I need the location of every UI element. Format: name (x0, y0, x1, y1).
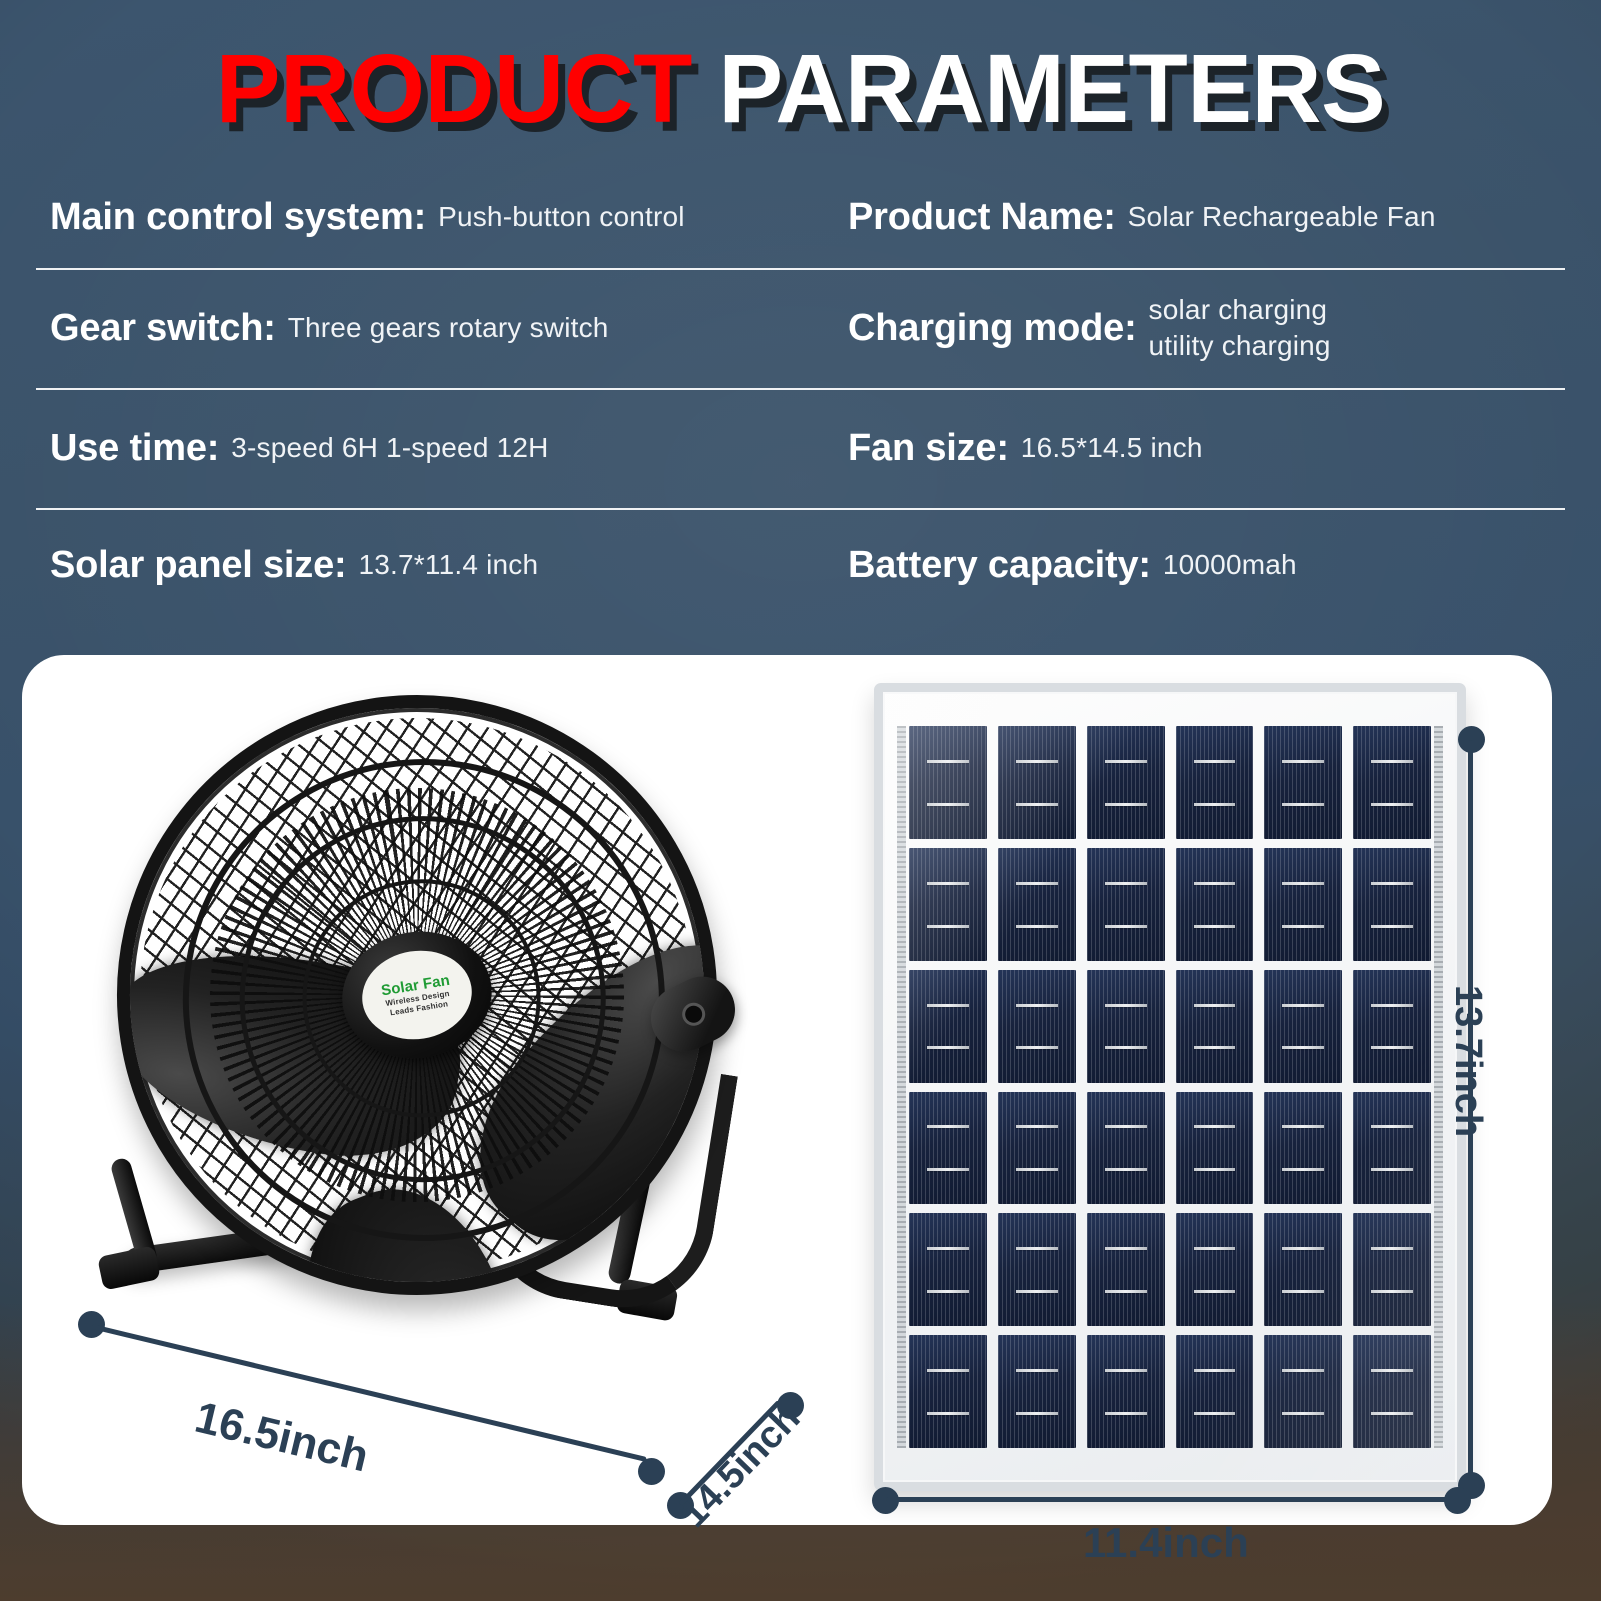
solar-cell (1353, 848, 1431, 961)
dimension-endpoint-dot (638, 1458, 665, 1485)
solar-cell (1087, 726, 1165, 839)
spec-value: Three gears rotary switch (288, 310, 609, 346)
solar-cell (998, 848, 1076, 961)
solar-cell-busbar (1282, 1004, 1324, 1007)
solar-cell-busbar (1282, 1247, 1324, 1250)
solar-cell-busbar (1282, 1125, 1324, 1128)
spec-label: Charging mode: (848, 307, 1137, 350)
spec-cell-battery-capacity: Battery capacity: 10000mah (826, 510, 1565, 622)
solar-cell (1176, 1092, 1254, 1205)
solar-cell-busbar (927, 1168, 969, 1171)
solar-cell-busbar (1371, 1004, 1413, 1007)
title-word-parameters: PARAMETERS (718, 34, 1385, 143)
spec-cell-gear-switch: Gear switch: Three gears rotary switch (36, 270, 826, 388)
solar-cell (1264, 726, 1342, 839)
solar-cell-busbar (1016, 882, 1058, 885)
solar-cell-busbar (927, 1004, 969, 1007)
solar-cell (998, 1092, 1076, 1205)
solar-cell (1353, 1213, 1431, 1326)
solar-cell-busbar (1016, 1046, 1058, 1049)
solar-cell-busbar (927, 1247, 969, 1250)
solar-cell-busbar (1371, 1046, 1413, 1049)
spec-row: Use time: 3-speed 6H 1-speed 12H Fan siz… (36, 390, 1565, 510)
spec-label: Main control system: (50, 196, 426, 239)
solar-cell (1176, 726, 1254, 839)
solar-cell-busbar (1016, 1247, 1058, 1250)
solar-cell-busbar (1194, 760, 1236, 763)
solar-cell-busbar (1371, 1247, 1413, 1250)
solar-cell-busbar (1105, 1168, 1147, 1171)
dimension-endpoint-dot (1444, 1487, 1471, 1514)
solar-cell-busbar (1371, 760, 1413, 763)
spec-row: Main control system: Push-button control… (36, 168, 1565, 270)
solar-cell-busbar (1016, 1369, 1058, 1372)
solar-cell-busbar (1371, 1168, 1413, 1171)
solar-cell-busbar (927, 803, 969, 806)
solar-cell-busbar (1105, 1369, 1147, 1372)
solar-cell-busbar (1194, 1412, 1236, 1415)
solar-cell-busbar (927, 1369, 969, 1372)
solar-cell-busbar (1282, 1290, 1324, 1293)
solar-cell-busbar (1371, 1290, 1413, 1293)
solar-cell-busbar (1282, 1412, 1324, 1415)
spec-value: 3-speed 6H 1-speed 12H (231, 430, 548, 466)
solar-cell-busbar (1016, 760, 1058, 763)
solar-cell-busbar (1371, 882, 1413, 885)
spec-cell-charging-mode: Charging mode: solar charging utility ch… (826, 270, 1565, 388)
solar-cell-busbar (1282, 925, 1324, 928)
spec-row: Solar panel size: 13.7*11.4 inch Battery… (36, 510, 1565, 622)
spec-cell-fan-size: Fan size: 16.5*14.5 inch (826, 390, 1565, 508)
solar-cell-busbar (1105, 1046, 1147, 1049)
solar-cell-busbar (1282, 760, 1324, 763)
solar-cell-column (1087, 726, 1165, 1448)
solar-cell (909, 726, 987, 839)
solar-cell-busbar (1105, 803, 1147, 806)
solar-cell (1176, 1213, 1254, 1326)
solar-cell-busbar (927, 1125, 969, 1128)
spec-label: Battery capacity: (848, 544, 1151, 587)
spec-value: 16.5*14.5 inch (1021, 430, 1203, 466)
solar-cell (1353, 1335, 1431, 1448)
solar-cell (1176, 848, 1254, 961)
solar-cell (1087, 1335, 1165, 1448)
page-title: PRODUCT PARAMETERS (0, 38, 1601, 140)
solar-cell-busbar (927, 1412, 969, 1415)
solar-cell-busbar (1194, 1369, 1236, 1372)
solar-cell-busbar (1371, 803, 1413, 806)
solar-cell-busbar (1105, 760, 1147, 763)
spec-cell-solar-panel-size: Solar panel size: 13.7*11.4 inch (36, 510, 826, 622)
spec-value: solar charging utility charging (1149, 292, 1331, 365)
solar-cell (998, 1335, 1076, 1448)
solar-cell (1353, 1092, 1431, 1205)
solar-cell-busbar (1016, 1125, 1058, 1128)
spec-cell-product-name: Product Name: Solar Rechargeable Fan (826, 168, 1565, 268)
solar-cell-column (998, 726, 1076, 1448)
solar-cell (998, 1213, 1076, 1326)
solar-cell-column (1353, 726, 1431, 1448)
dimension-label-panel-width: 11.4inch (1083, 1519, 1249, 1567)
solar-cell (1264, 1213, 1342, 1326)
solar-cell-busbar (1194, 1247, 1236, 1250)
solar-cell-busbar (1282, 882, 1324, 885)
solar-cell (998, 726, 1076, 839)
solar-cell-busbar (1371, 1369, 1413, 1372)
solar-cell-grid (909, 726, 1431, 1448)
solar-cell-busbar (1016, 1004, 1058, 1007)
solar-cell-busbar (1371, 1412, 1413, 1415)
spec-label: Solar panel size: (50, 544, 346, 587)
solar-cell-busbar (1016, 1412, 1058, 1415)
spec-value: Push-button control (438, 199, 685, 235)
spec-label: Gear switch: (50, 307, 276, 350)
solar-cell-busbar (1194, 1046, 1236, 1049)
solar-panel-right-rail (1434, 726, 1443, 1448)
solar-cell-column (1264, 726, 1342, 1448)
solar-cell-busbar (1371, 925, 1413, 928)
spec-label: Use time: (50, 427, 219, 470)
spec-table: Main control system: Push-button control… (36, 168, 1565, 622)
solar-cell (1264, 1335, 1342, 1448)
fan-hub-label: Solar Fan Wireless Design Leads Fashion (356, 943, 478, 1047)
spec-cell-main-control-system: Main control system: Push-button control (36, 168, 826, 268)
solar-cell-busbar (1194, 1168, 1236, 1171)
solar-cell-column (909, 726, 987, 1448)
solar-cell (1176, 1335, 1254, 1448)
fan-product-image: Solar Fan Wireless Design Leads Fashion (62, 665, 802, 1505)
solar-cell-busbar (1105, 1247, 1147, 1250)
solar-cell-busbar (927, 760, 969, 763)
solar-cell-busbar (1016, 1168, 1058, 1171)
solar-cell-busbar (1016, 925, 1058, 928)
solar-cell-busbar (1105, 1412, 1147, 1415)
product-parameters-infographic: PRODUCT PARAMETERS Main control system: … (0, 0, 1601, 1601)
spec-value: 13.7*11.4 inch (358, 547, 538, 583)
spec-label: Fan size: (848, 427, 1009, 470)
solar-cell (909, 1213, 987, 1326)
solar-cell (1264, 848, 1342, 961)
solar-cell (1353, 726, 1431, 839)
solar-cell-busbar (927, 882, 969, 885)
solar-cell-busbar (1194, 925, 1236, 928)
solar-cell-busbar (1016, 803, 1058, 806)
spec-value: 10000mah (1163, 547, 1297, 583)
solar-cell-busbar (1282, 1168, 1324, 1171)
solar-cell-busbar (1105, 882, 1147, 885)
solar-cell-busbar (1371, 1125, 1413, 1128)
solar-cell-busbar (1194, 803, 1236, 806)
dimension-line-panel-width (886, 1497, 1452, 1502)
solar-cell-busbar (1105, 1125, 1147, 1128)
solar-cell-busbar (1194, 1290, 1236, 1293)
solar-cell (1264, 970, 1342, 1083)
spec-value: Solar Rechargeable Fan (1128, 199, 1436, 235)
solar-cell-busbar (1194, 1004, 1236, 1007)
solar-cell-busbar (1194, 1125, 1236, 1128)
solar-cell (1087, 1092, 1165, 1205)
solar-cell (909, 1092, 987, 1205)
solar-cell-busbar (927, 1290, 969, 1293)
solar-cell-busbar (1282, 1046, 1324, 1049)
solar-cell (909, 970, 987, 1083)
spec-row: Gear switch: Three gears rotary switch C… (36, 270, 1565, 390)
solar-cell-busbar (1282, 803, 1324, 806)
dimension-label-panel-height: 13.7inch (1446, 985, 1489, 1137)
solar-cell (1087, 970, 1165, 1083)
solar-cell (1353, 970, 1431, 1083)
solar-cell-busbar (1194, 882, 1236, 885)
solar-cell-busbar (1016, 1290, 1058, 1293)
solar-cell-busbar (927, 1046, 969, 1049)
solar-cell (909, 848, 987, 961)
spec-label: Product Name: (848, 196, 1116, 239)
solar-cell (1176, 970, 1254, 1083)
solar-cell-column (1176, 726, 1254, 1448)
solar-cell (1087, 1213, 1165, 1326)
solar-panel-image (874, 683, 1466, 1491)
solar-cell-busbar (1105, 1290, 1147, 1293)
solar-panel-left-rail (897, 726, 906, 1448)
solar-cell-busbar (1105, 925, 1147, 928)
solar-cell (998, 970, 1076, 1083)
solar-cell (1264, 1092, 1342, 1205)
solar-cell (1087, 848, 1165, 961)
solar-cell-busbar (1282, 1369, 1324, 1372)
title-word-product: PRODUCT (216, 34, 692, 143)
solar-cell-busbar (1105, 1004, 1147, 1007)
solar-cell (909, 1335, 987, 1448)
solar-cell-busbar (927, 925, 969, 928)
fan-foot-left (97, 1245, 161, 1290)
spec-cell-use-time: Use time: 3-speed 6H 1-speed 12H (36, 390, 826, 508)
